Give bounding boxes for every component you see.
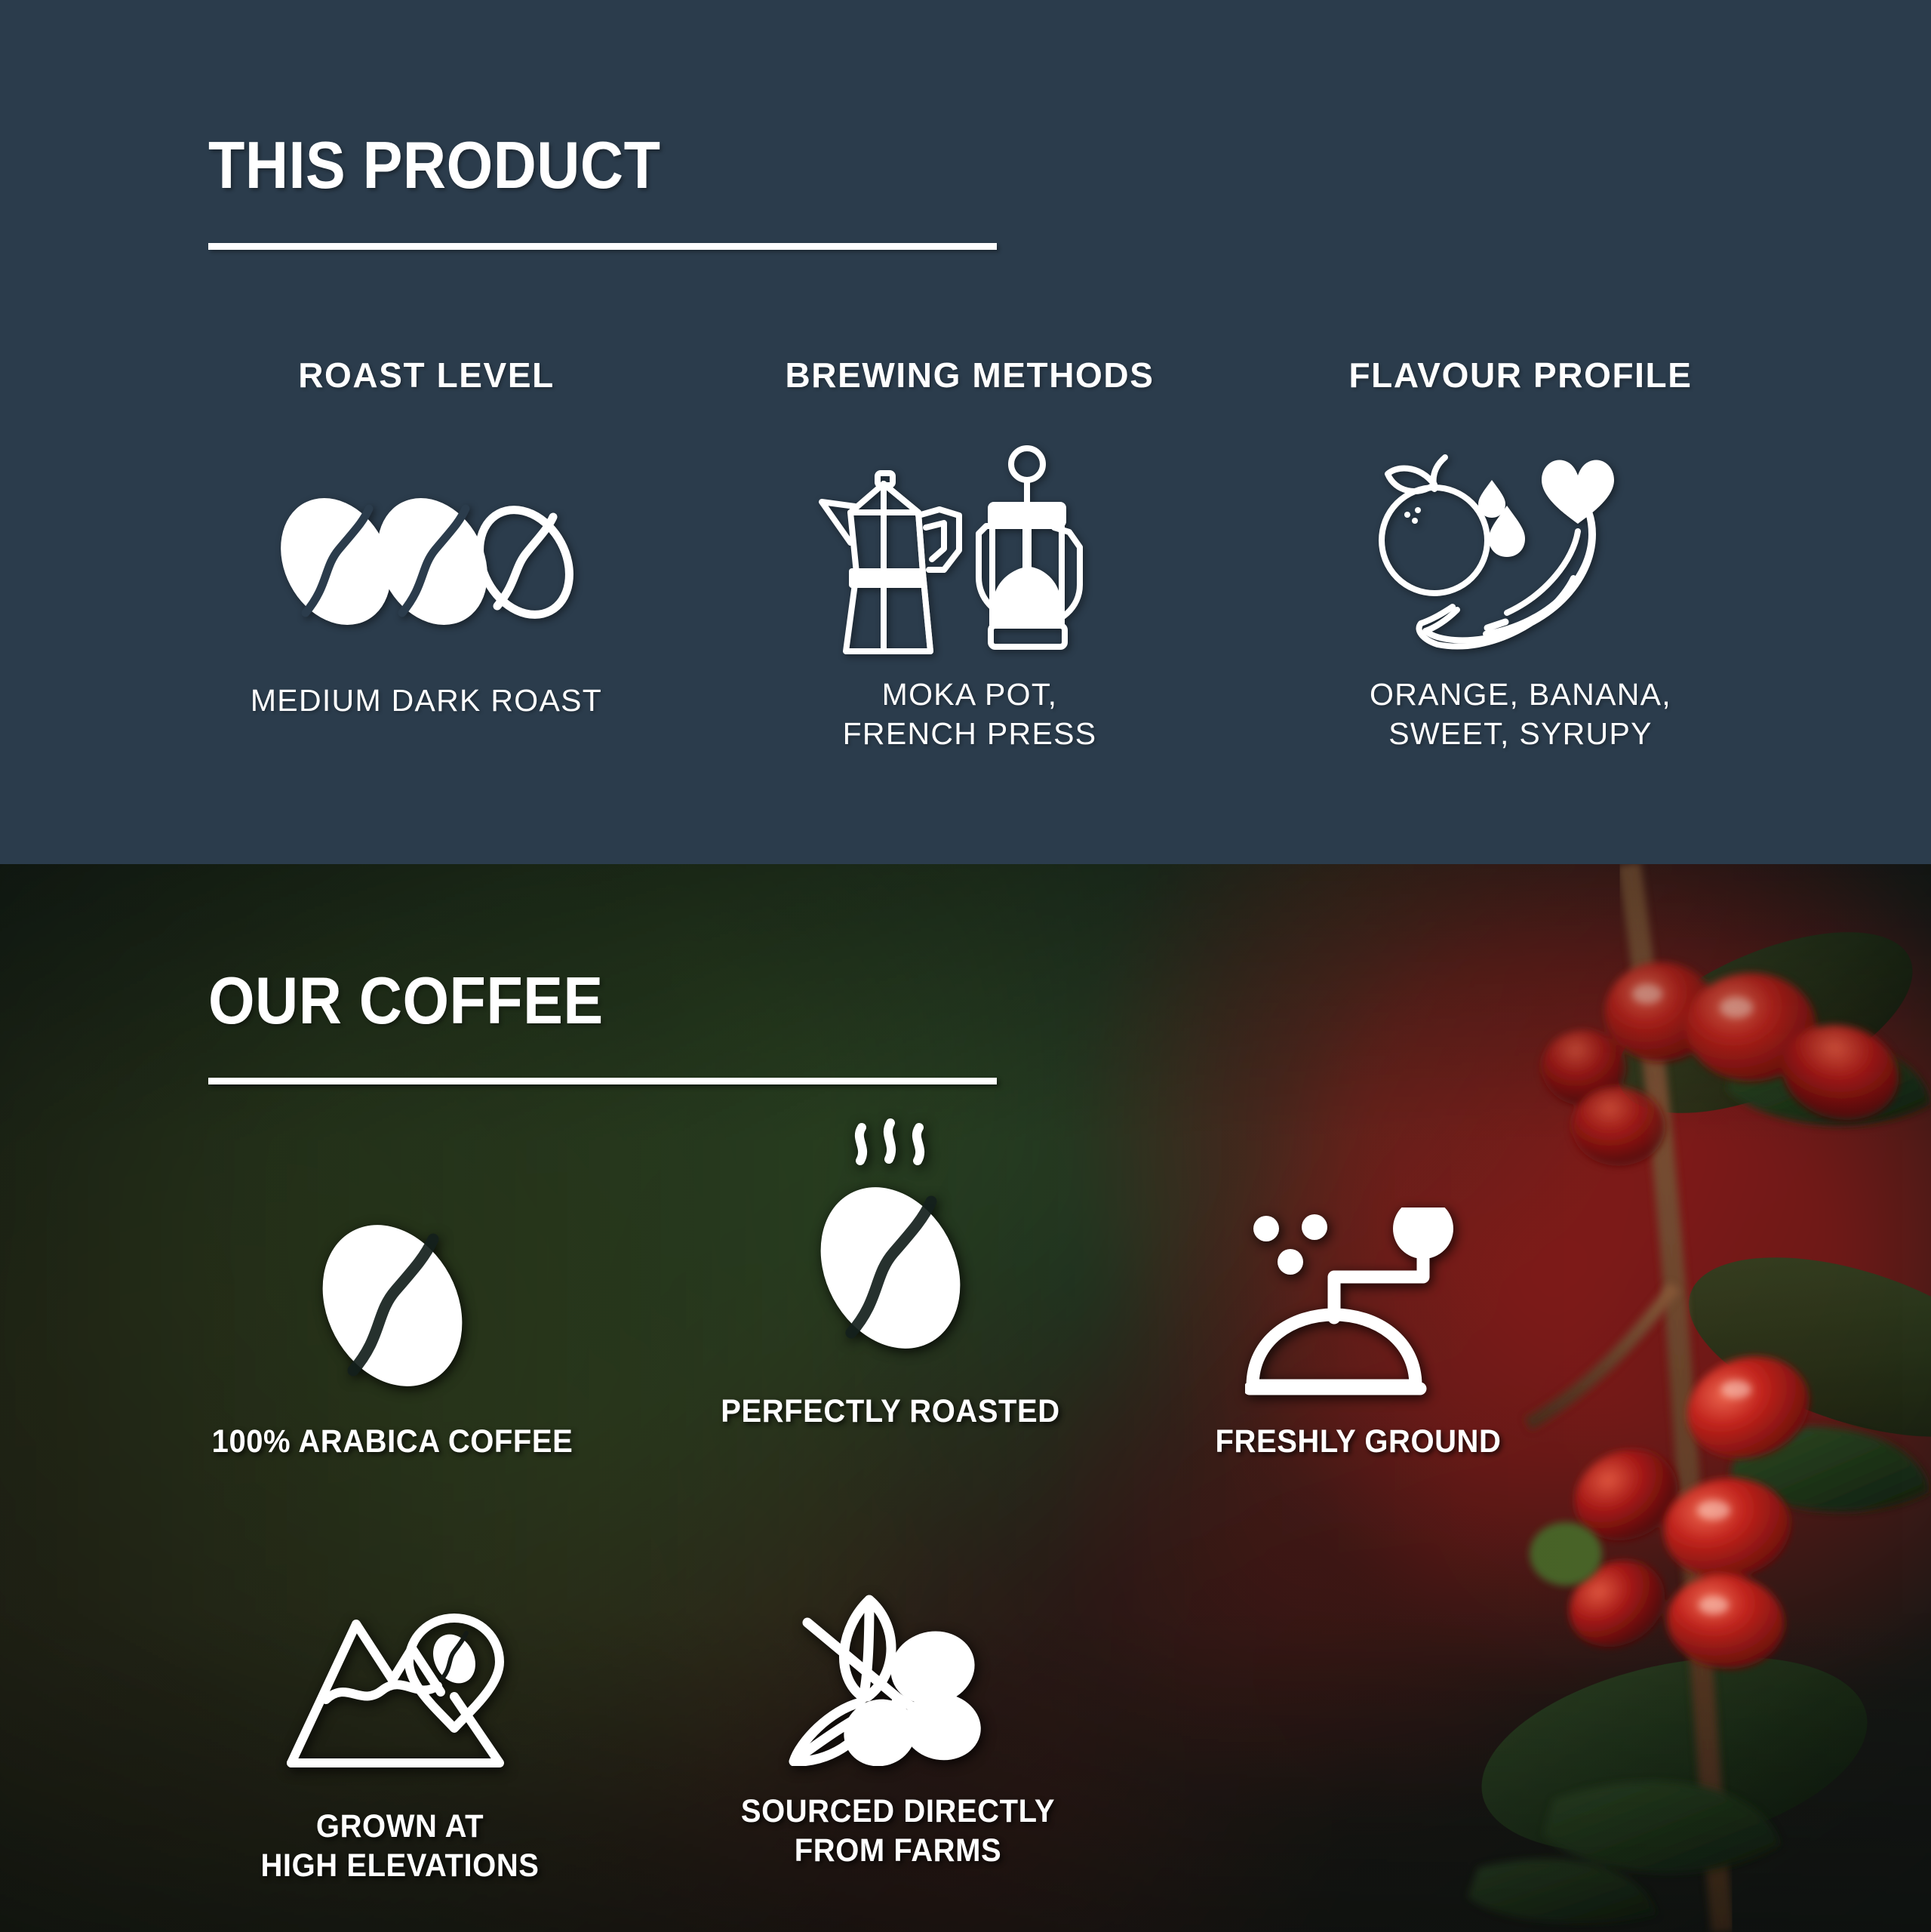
feature-sourced: SOURCED DIRECTLY FROM FARMS — [702, 1547, 1094, 1871]
steaming-coffee-bean-icon — [694, 1147, 1087, 1366]
feature-ground-label: FRESHLY GROUND — [1176, 1422, 1541, 1461]
flavour-profile-column: FLAVOUR PROFILE — [1230, 355, 1811, 754]
roast-level-caption: MEDIUM DARK ROAST — [136, 681, 717, 720]
roast-level-column: ROAST LEVEL — [136, 355, 717, 720]
coffee-product-infographic: THIS PRODUCT ROAST LEVEL — [0, 0, 1931, 1932]
mountain-location-pin-icon — [211, 1562, 589, 1781]
feature-arabica-label: 100% ARABICA COFFEE — [210, 1422, 575, 1461]
feature-sourced-label: SOURCED DIRECTLY FROM FARMS — [715, 1792, 1081, 1871]
orange-banana-heart-droplets-icon — [1230, 418, 1811, 675]
brewing-methods-caption: MOKA POT, FRENCH PRESS — [679, 675, 1260, 754]
feature-grown-label: GROWN AT HIGH ELEVATIONS — [225, 1807, 576, 1886]
flavour-profile-caption: ORANGE, BANANA, SWEET, SYRUPY — [1230, 675, 1811, 754]
this-product-heading: THIS PRODUCT — [208, 127, 660, 204]
hand-grinder-icon — [1162, 1177, 1554, 1396]
flavour-profile-header: FLAVOUR PROFILE — [1230, 355, 1811, 395]
brewing-methods-header: BREWING METHODS — [679, 355, 1260, 395]
coffee-branch-cherries-icon — [702, 1547, 1094, 1766]
coffee-beans-roast-scale-icon — [136, 448, 717, 675]
roast-level-header: ROAST LEVEL — [136, 355, 717, 395]
feature-ground: FRESHLY GROUND — [1162, 1177, 1554, 1461]
this-product-panel: THIS PRODUCT ROAST LEVEL — [0, 0, 1931, 864]
brewing-methods-column: BREWING METHODS — [679, 355, 1260, 754]
feature-roasted-label: PERFECTLY ROASTED — [708, 1392, 1073, 1431]
our-coffee-divider — [208, 1078, 997, 1084]
coffee-bean-icon — [196, 1177, 589, 1396]
feature-grown: GROWN AT HIGH ELEVATIONS — [211, 1562, 589, 1886]
this-product-divider — [208, 243, 997, 250]
moka-pot-french-press-icon — [679, 426, 1260, 675]
our-coffee-heading: OUR COFFEE — [208, 962, 604, 1039]
feature-roasted: PERFECTLY ROASTED — [694, 1147, 1087, 1431]
feature-arabica: 100% ARABICA COFFEE — [196, 1177, 589, 1461]
